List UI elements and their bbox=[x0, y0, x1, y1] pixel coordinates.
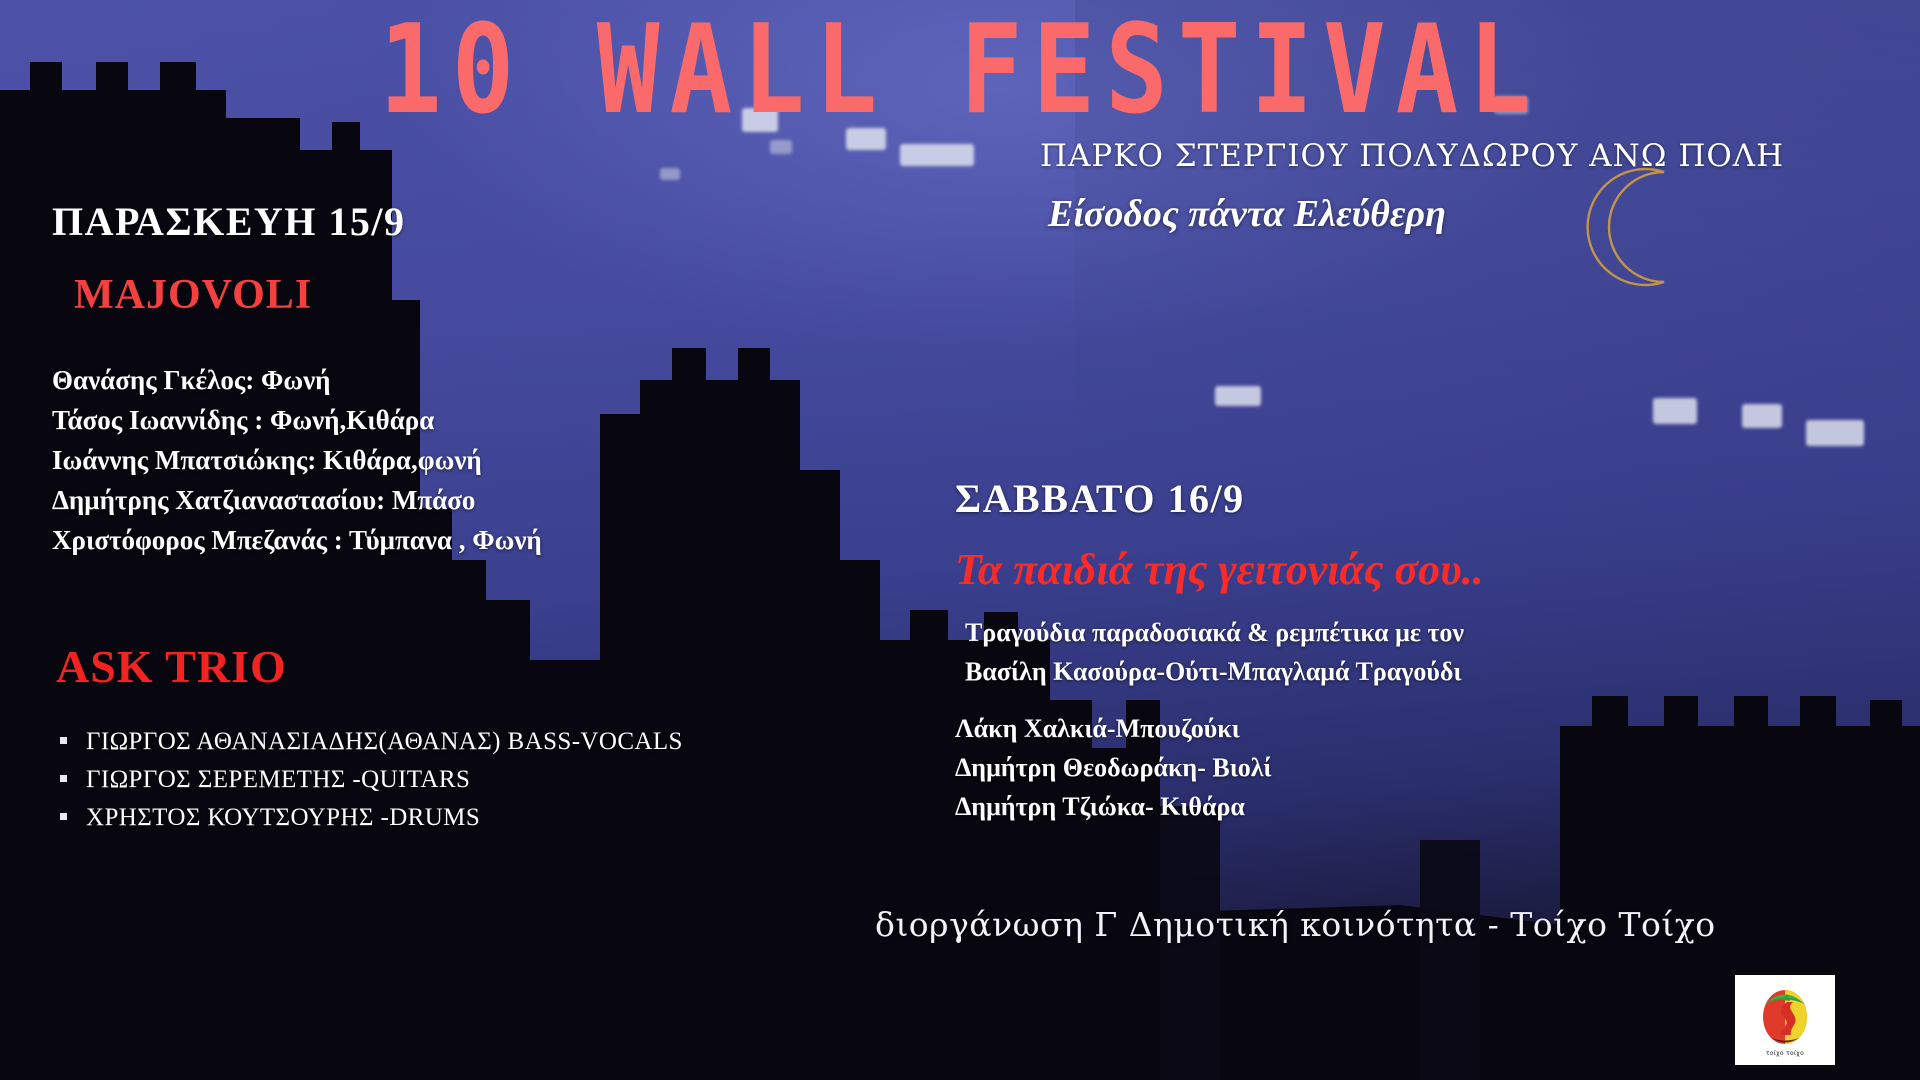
majovoli-member-list: Θανάσης Γκέλος: Φωνή Τάσος Ιωαννίδης : Φ… bbox=[52, 361, 542, 561]
list-item: Τραγούδια παραδοσιακά & ρεμπέτικα με τον bbox=[955, 613, 1484, 652]
ask-trio-member-list: ΓΙΩΡΓΟΣ ΑΘΑΝΑΣΙΑΔΗΣ(ΑΘΑΝΑΣ) BASS-VOCALS … bbox=[56, 723, 683, 837]
list-item: Δημήτρη Τζιώκα- Κιθάρα bbox=[955, 787, 1484, 826]
ask-trio-section: ASK TRIO ΓΙΩΡΓΟΣ ΑΘΑΝΑΣΙΑΔΗΣ(ΑΘΑΝΑΣ) BAS… bbox=[56, 640, 683, 837]
band-name-majovoli: MAJOVOLI bbox=[74, 271, 542, 319]
list-item: Τάσος Ιωαννίδης : Φωνή,Κιθάρα bbox=[52, 401, 542, 441]
list-item: ΧΡΗΣΤΟΣ ΚΟΥΤΣΟΥΡΗΣ -DRUMS bbox=[56, 799, 683, 837]
cloud-4 bbox=[770, 140, 792, 154]
friday-section: ΠΑΡΑΣΚΕΥΗ 15/9 MAJOVOLI Θανάσης Γκέλος: … bbox=[52, 198, 542, 561]
list-item: Θανάσης Γκέλος: Φωνή bbox=[52, 361, 542, 401]
band-name-ta-paidia: Τα παιδιά της γειτονιάς σου.. bbox=[955, 544, 1484, 595]
page-title: 10 WALL FESTIVAL bbox=[0, 8, 1920, 131]
list-item: Λάκη Χαλκιά-Μπουζούκι bbox=[955, 709, 1484, 748]
cloud-5 bbox=[1215, 386, 1261, 406]
saturday-date: ΣΑΒΒΑΤΟ 16/9 bbox=[955, 475, 1484, 522]
festival-poster: 10 WALL FESTIVAL ΠΑΡΚΟ ΣΤΕΡΓΙΟΥ ΠΟΛΥΔΩΡΟ… bbox=[0, 0, 1920, 1080]
list-item: Βασίλη Κασούρα-Ούτι-Μπαγλαμά Τραγούδι bbox=[955, 652, 1484, 691]
cloud-8 bbox=[1806, 420, 1864, 446]
saturday-musicians: Λάκη Χαλκιά-Μπουζούκι Δημήτρη Θεοδωράκη-… bbox=[955, 709, 1484, 826]
list-item: ΓΙΩΡΓΟΣ ΣΕΡΕΜΕΤΗΣ -QUITARS bbox=[56, 761, 683, 799]
free-entry-label: Είσοδος πάντα Ελεύθερη bbox=[1048, 192, 1446, 236]
logo-caption: τοίχο τοίχο bbox=[1766, 1050, 1804, 1057]
cloud-3 bbox=[900, 144, 974, 166]
list-item: Χριστόφορος Μπεζανάς : Τύμπανα , Φωνή bbox=[52, 521, 542, 561]
crescent-moon-icon bbox=[1572, 162, 1702, 292]
logo-icon bbox=[1757, 984, 1813, 1048]
saturday-section: ΣΑΒΒΑΤΟ 16/9 Τα παιδιά της γειτονιάς σου… bbox=[955, 475, 1484, 826]
cloud-11 bbox=[660, 168, 680, 180]
cloud-7 bbox=[1742, 404, 1782, 428]
organizer-credit: διοργάνωση Γ Δημοτική κοινότητα - Τοίχο … bbox=[875, 905, 1716, 944]
list-item: Ιωάννης Μπατσιώκης: Κιθάρα,φωνή bbox=[52, 441, 542, 481]
cloud-6 bbox=[1653, 398, 1697, 424]
cloud-9 bbox=[60, 178, 90, 194]
friday-date: ΠΑΡΑΣΚΕΥΗ 15/9 bbox=[52, 198, 542, 245]
list-item: ΓΙΩΡΓΟΣ ΑΘΑΝΑΣΙΑΔΗΣ(ΑΘΑΝΑΣ) BASS-VOCALS bbox=[56, 723, 683, 761]
list-item: Δημήτρης Χατζιαναστασίου: Μπάσο bbox=[52, 481, 542, 521]
saturday-details: Τραγούδια παραδοσιακά & ρεμπέτικα με τον… bbox=[955, 613, 1484, 826]
list-item: Δημήτρη Θεοδωράκη- Βιολί bbox=[955, 748, 1484, 787]
toicho-toicho-logo: τοίχο τοίχο bbox=[1735, 975, 1835, 1065]
band-name-ask-trio: ASK TRIO bbox=[56, 640, 683, 693]
venue-label: ΠΑΡΚΟ ΣΤΕΡΓΙΟΥ ΠΟΛΥΔΩΡΟΥ ΑΝΩ ΠΟΛΗ bbox=[1040, 138, 1784, 174]
